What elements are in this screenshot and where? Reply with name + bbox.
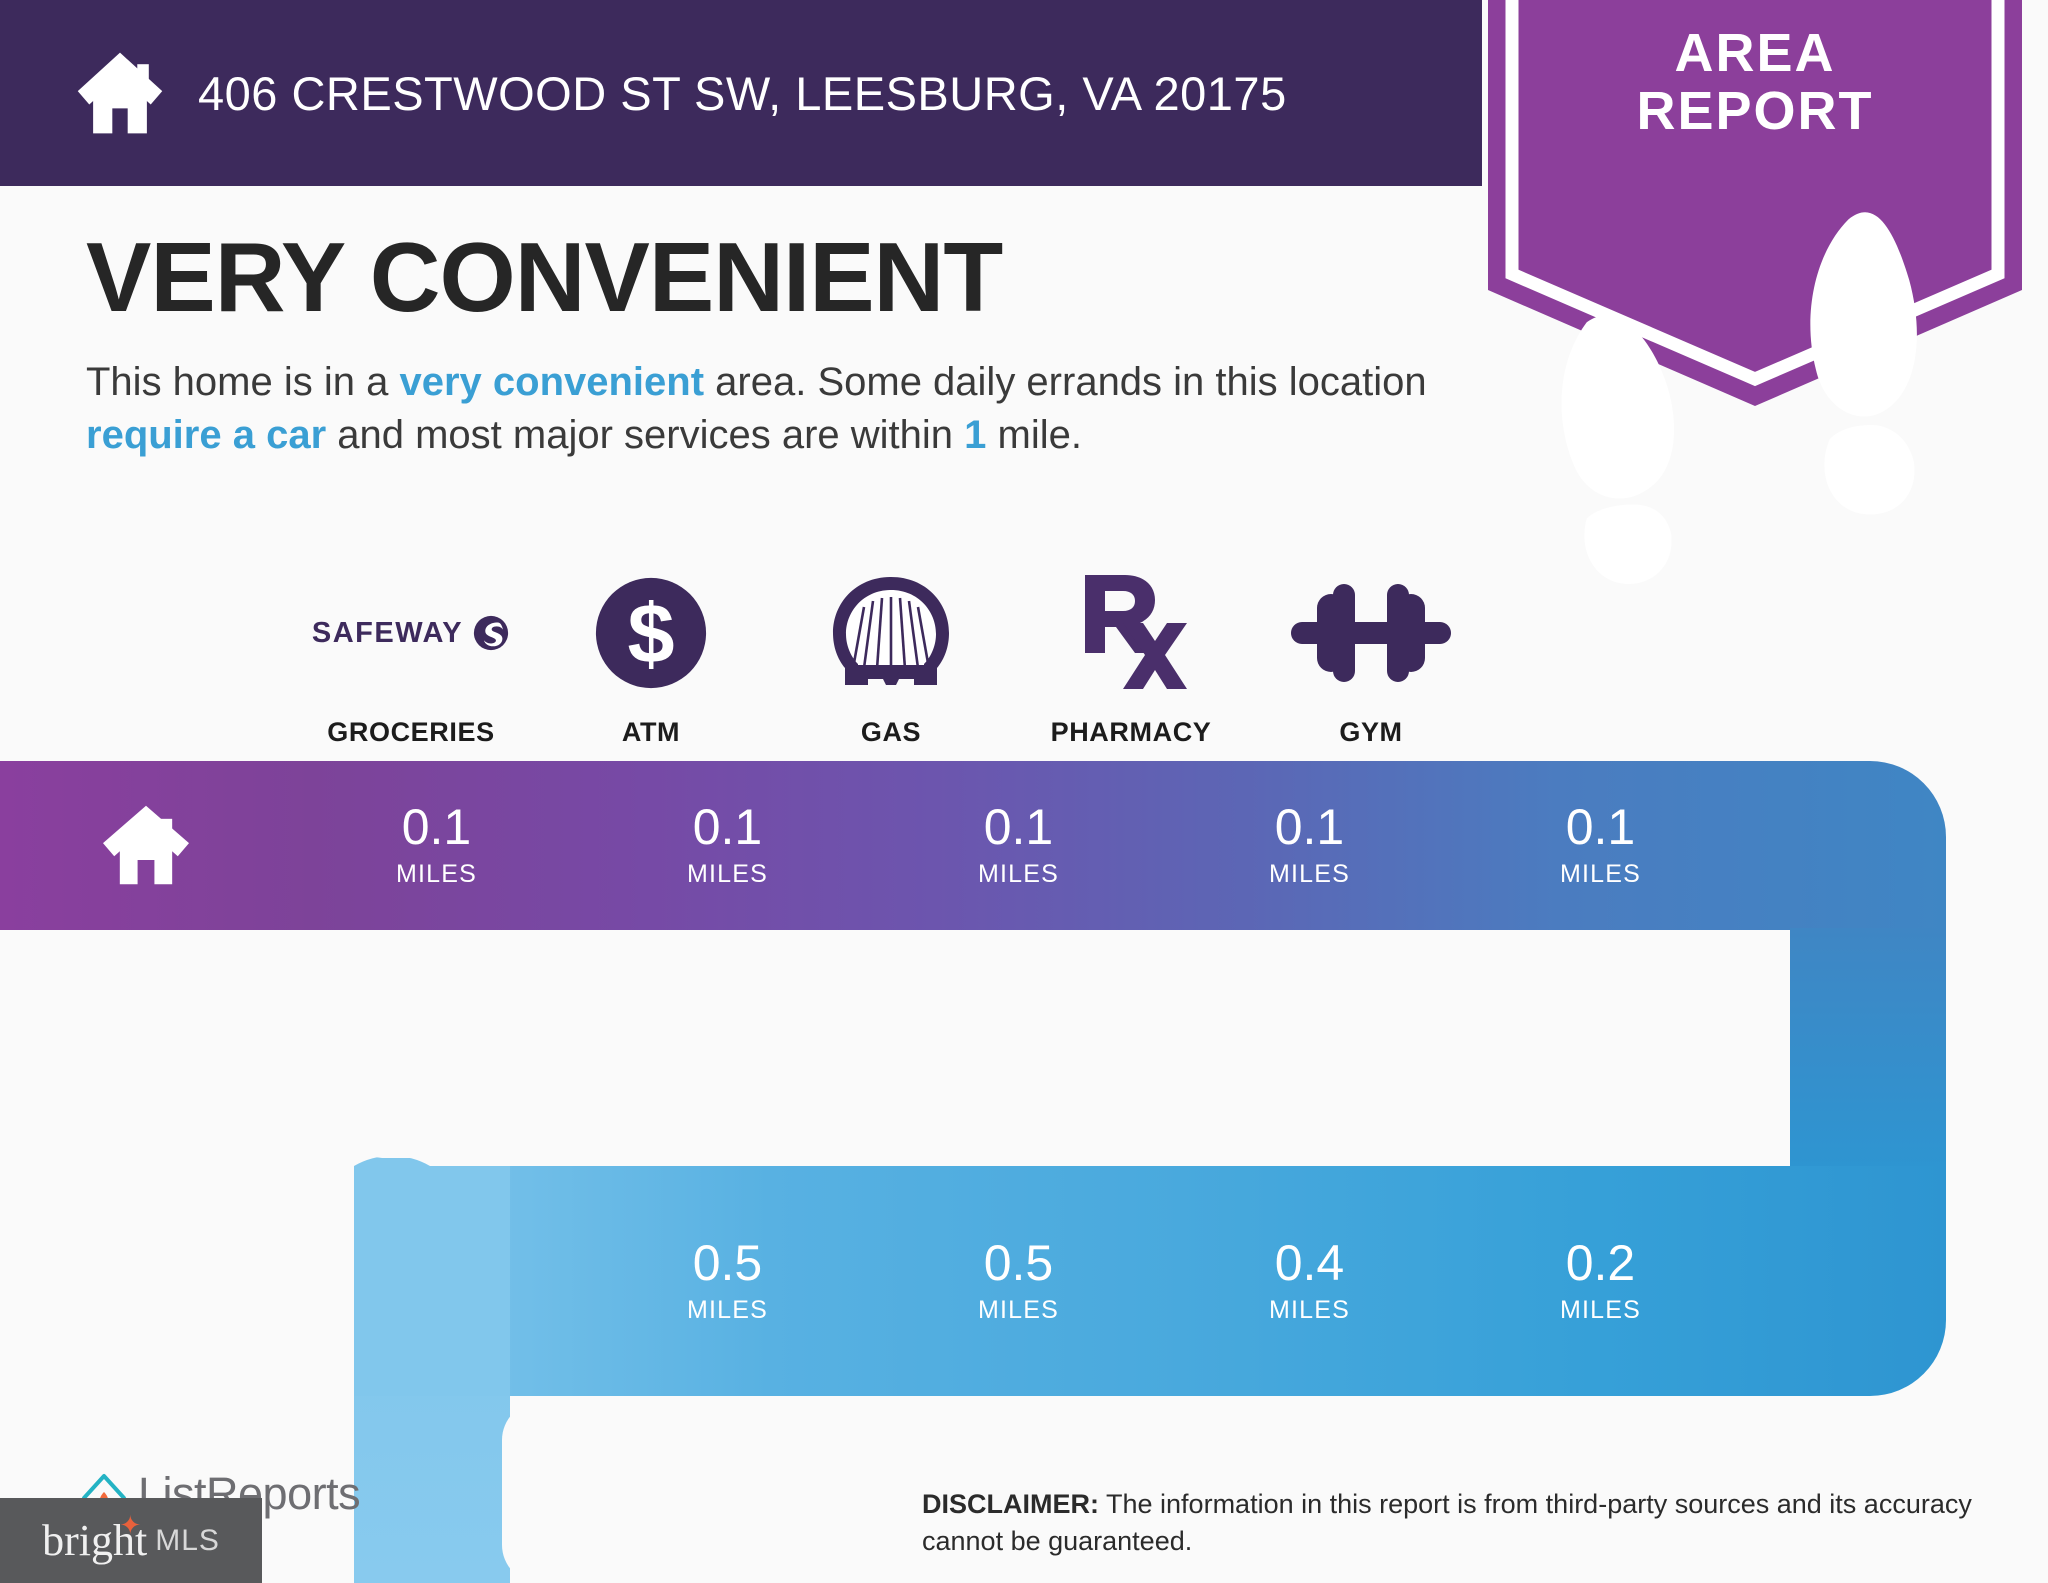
badge-title: AREA REPORT <box>1482 24 2028 141</box>
intro-block: VERY CONVENIENT This home is in a very c… <box>86 228 1466 462</box>
category-label: GROCERIES <box>327 717 494 748</box>
shell-logo-icon <box>828 567 954 699</box>
distance-units: MILES <box>978 1296 1059 1325</box>
distance-cell-groceries: 0.1 MILES <box>291 760 582 930</box>
category-pharmacy[interactable]: PHARMACY <box>1011 558 1251 748</box>
badge-title-line2: REPORT <box>1482 82 2028 140</box>
distance-value: 0.1 <box>693 802 763 852</box>
bright-star-icon: ✦ <box>119 1511 141 1541</box>
distance-cell-coffee: 0.4 MILES <box>1164 1166 1455 1396</box>
distance-cells: 0.1 MILES 0.1 MILES 0.1 MILES 0.1 MILES … <box>0 760 2048 1583</box>
category-groceries[interactable]: SAFEWAY GROCERIES <box>291 558 531 748</box>
distance-units: MILES <box>1269 1296 1350 1325</box>
category-label: PHARMACY <box>1051 717 1212 748</box>
intro-highlight: require a car <box>86 413 326 457</box>
intro-text: This home is in a <box>86 360 399 404</box>
category-gas[interactable]: GAS <box>771 558 1011 748</box>
distance-value: 0.2 <box>1566 1238 1636 1288</box>
dumbbell-icon <box>1291 567 1451 699</box>
intro-highlight: very convenient <box>399 360 704 404</box>
bright-mls-logo: bright✦ MLS <box>0 1498 262 1583</box>
home-marker-cell <box>0 760 291 930</box>
intro-paragraph: This home is in a very convenient area. … <box>86 356 1476 462</box>
distance-value: 0.4 <box>1275 1238 1345 1288</box>
property-address: 406 CRESTWOOD ST SW, LEESBURG, VA 20175 <box>198 66 1287 121</box>
distance-value: 0.1 <box>1275 802 1345 852</box>
distance-cell-gas: 0.1 MILES <box>873 760 1164 930</box>
distance-units: MILES <box>687 860 768 889</box>
svg-text:$: $ <box>627 586 674 681</box>
category-label: GAS <box>861 717 921 748</box>
intro-highlight: 1 <box>964 413 986 457</box>
distance-cell-cleaners: 0.2 MILES <box>1455 1166 1746 1396</box>
category-icons-row-1: SAFEWAY GROCERIES $ ATM <box>291 558 1491 748</box>
distance-units: MILES <box>1560 1296 1641 1325</box>
category-label: ATM <box>622 717 680 748</box>
intro-text: and most major services are within <box>326 413 964 457</box>
distance-value: 0.1 <box>402 802 472 852</box>
page-title: VERY CONVENIENT <box>86 228 1466 326</box>
distance-units: MILES <box>396 860 477 889</box>
intro-text: mile. <box>986 413 1082 457</box>
distance-units: MILES <box>1269 860 1350 889</box>
distance-units: MILES <box>687 1296 768 1325</box>
bright-wordmark: bright✦ <box>42 1515 147 1566</box>
category-atm[interactable]: $ ATM <box>531 558 771 748</box>
distance-cell-atm: 0.1 MILES <box>582 760 873 930</box>
area-report-page: 406 CRESTWOOD ST SW, LEESBURG, VA 20175 … <box>0 0 2048 1583</box>
distance-units: MILES <box>1560 860 1641 889</box>
distance-value: 0.5 <box>693 1238 763 1288</box>
distance-value: 0.1 <box>1566 802 1636 852</box>
distance-value: 0.5 <box>984 1238 1054 1288</box>
footprints-icon <box>1482 182 2028 612</box>
home-icon <box>98 802 194 888</box>
distance-cell-gym: 0.1 MILES <box>1455 760 1746 930</box>
category-gym[interactable]: GYM <box>1251 558 1491 748</box>
intro-text: area. Some daily errands in this locatio… <box>704 360 1427 404</box>
disclaimer: DISCLAIMER: The information in this repo… <box>922 1486 2002 1559</box>
safeway-logo-icon: SAFEWAY <box>312 567 510 699</box>
distance-value: 0.1 <box>984 802 1054 852</box>
badge-title-line1: AREA <box>1482 24 2028 82</box>
mls-wordmark: MLS <box>155 1524 220 1558</box>
dollar-circle-icon: $ <box>592 567 710 699</box>
area-report-badge: AREA REPORT <box>1482 0 2028 420</box>
distance-units: MILES <box>978 860 1059 889</box>
home-icon <box>72 45 168 141</box>
header-bar: 406 CRESTWOOD ST SW, LEESBURG, VA 20175 <box>0 0 1482 186</box>
distance-cell-medical: 0.5 MILES <box>582 1166 873 1396</box>
distance-cell-pharmacy: 0.1 MILES <box>1164 760 1455 930</box>
disclaimer-label: DISCLAIMER: <box>922 1489 1099 1519</box>
safeway-wordmark: SAFEWAY <box>312 617 463 650</box>
distance-cell-movie-theater: 0.5 MILES <box>873 1166 1164 1396</box>
safeway-swirl-icon <box>472 614 510 652</box>
category-label: GYM <box>1339 717 1402 748</box>
rx-icon <box>1071 567 1191 699</box>
